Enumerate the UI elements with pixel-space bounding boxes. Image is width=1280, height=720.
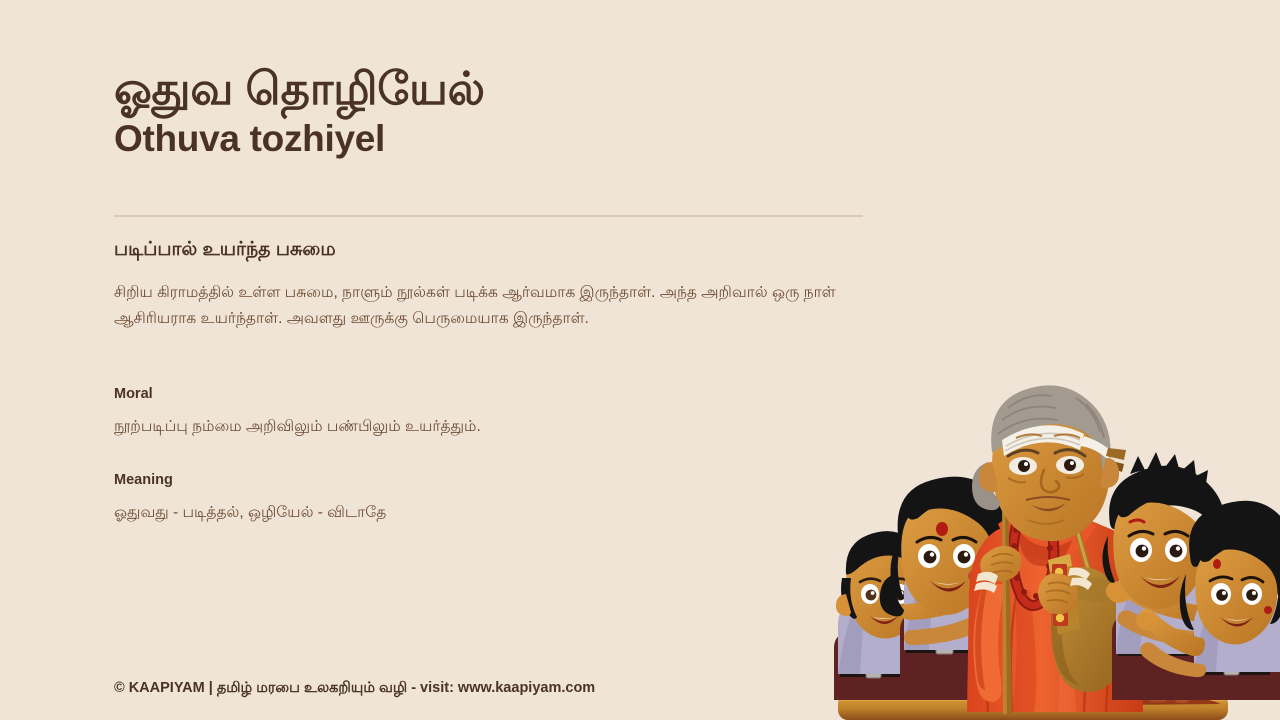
meaning-text: ஓதுவது - படித்தல், ஒழியேல் - விடாதே <box>114 501 854 526</box>
page-title-english: Othuva tozhiyel <box>114 117 874 161</box>
header-block: ஓதுவ தொழியேல் Othuva tozhiyel <box>114 62 874 161</box>
moral-block: Moral நூற்படிப்பு நம்மை அறிவிலும் பண்பில… <box>114 385 854 440</box>
moral-text: நூற்படிப்பு நம்மை அறிவிலும் பண்பிலும் உய… <box>114 415 854 440</box>
page-title-tamil: ஓதுவ தொழியேல் <box>114 62 874 115</box>
footer-credit: © KAAPIYAM | தமிழ் மரபை உலகறியும் வழி - … <box>114 678 595 698</box>
story-paragraph: சிறிய கிராமத்தில் உள்ள பசுமை, நாளும் நூல… <box>114 280 854 333</box>
elder-teacher-with-children-illustration <box>812 378 1280 720</box>
story-card: ஓதுவ தொழியேல் Othuva tozhiyel படிப்பால் … <box>0 0 1280 720</box>
meaning-block: Meaning ஓதுவது - படித்தல், ஒழியேல் - விட… <box>114 471 854 526</box>
story-block: படிப்பால் உயர்ந்த பசுமை சிறிய கிராமத்தில… <box>114 238 859 333</box>
story-heading: படிப்பால் உயர்ந்த பசுமை <box>114 238 859 263</box>
meaning-label: Meaning <box>114 471 854 490</box>
moral-label: Moral <box>114 385 854 404</box>
header-divider <box>114 215 863 217</box>
